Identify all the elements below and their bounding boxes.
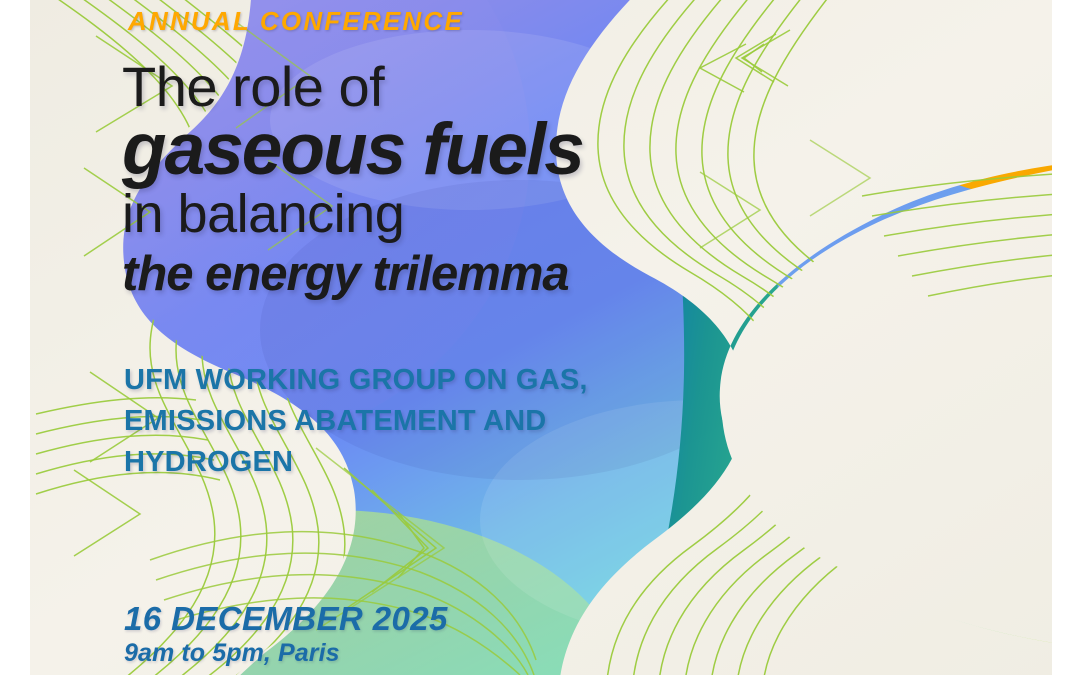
event-time-location: 9am to 5pm, Paris bbox=[124, 638, 448, 668]
working-group-line-2: EMISSIONS ABATEMENT AND bbox=[124, 401, 714, 442]
event-date: 16 DECEMBER 2025 bbox=[124, 600, 448, 638]
working-group-line-3: HYDROGEN bbox=[124, 442, 714, 483]
left-white-margin bbox=[0, 0, 30, 675]
title-line-2: gaseous fuels bbox=[122, 112, 722, 188]
working-group-subtitle: UFM WORKING GROUP ON GAS, EMISSIONS ABAT… bbox=[124, 360, 714, 483]
title-line-4: the energy trilemma bbox=[122, 246, 722, 302]
event-details: 16 DECEMBER 2025 9am to 5pm, Paris bbox=[124, 600, 448, 668]
conference-poster: ANNUAL CONFERENCE The role of gaseous fu… bbox=[0, 0, 1080, 675]
page-title: The role of gaseous fuels in balancing t… bbox=[122, 58, 722, 302]
title-line-1: The role of bbox=[122, 58, 722, 116]
working-group-line-1: UFM WORKING GROUP ON GAS, bbox=[124, 360, 714, 401]
eyebrow-label: ANNUAL CONFERENCE bbox=[128, 6, 464, 37]
title-line-3: in balancing bbox=[122, 186, 722, 242]
